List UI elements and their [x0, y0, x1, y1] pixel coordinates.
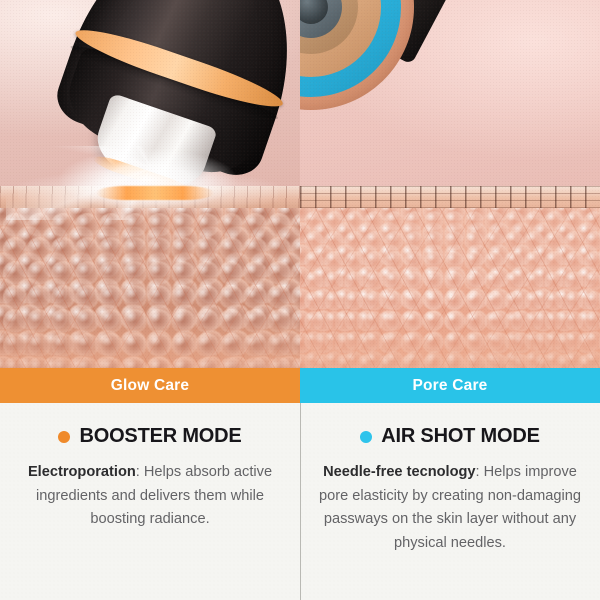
booster-mode-term: Electroporation — [28, 464, 136, 480]
skin-cell-field-offset — [3, 213, 300, 368]
concentric-ring-nozzle-icon — [300, 0, 414, 110]
banner-glow-care-label: Glow Care — [111, 377, 189, 395]
imagery-region — [0, 0, 600, 368]
cyan-bullet-icon — [360, 431, 372, 443]
air-shot-mode-description: Needle-free tecnology: Helps improve por… — [314, 461, 586, 556]
banner-glow-care[interactable]: Glow Care — [0, 368, 300, 403]
glow-care-image-panel — [0, 0, 300, 368]
skin-cross-section-dense-cells-icon — [0, 186, 300, 368]
glow-care-description-column: BOOSTER MODE Electroporation: Helps abso… — [0, 403, 300, 600]
pore-care-description-column: AIR SHOT MODE Needle-free tecnology: Hel… — [300, 403, 600, 600]
air-shot-mode-title: AIR SHOT MODE — [381, 425, 540, 448]
column-divider — [300, 403, 301, 600]
skin-cell-field-offset — [304, 211, 600, 368]
banner-pore-care[interactable]: Pore Care — [300, 368, 600, 403]
product-infographic: Glow Care Pore Care BOOSTER MODE Electro… — [0, 0, 600, 600]
banner-pore-care-label: Pore Care — [412, 377, 487, 395]
air-shot-mode-heading: AIR SHOT MODE — [314, 425, 586, 448]
booster-mode-description: Electroporation: Helps absorb active ing… — [14, 461, 286, 532]
air-shot-mode-term: Needle-free tecnology — [323, 464, 475, 480]
booster-mode-separator: : — [136, 464, 144, 480]
orange-bullet-icon — [58, 431, 70, 443]
pore-care-image-panel — [300, 0, 600, 368]
skin-cross-section-light-cells-icon — [300, 186, 600, 368]
booster-mode-title: BOOSTER MODE — [79, 425, 241, 448]
air-shot-mode-separator: : — [476, 464, 484, 480]
mode-banner-row: Glow Care Pore Care — [0, 368, 600, 403]
air-jet-puncture-icon — [300, 186, 600, 208]
booster-mode-heading: BOOSTER MODE — [14, 425, 286, 448]
